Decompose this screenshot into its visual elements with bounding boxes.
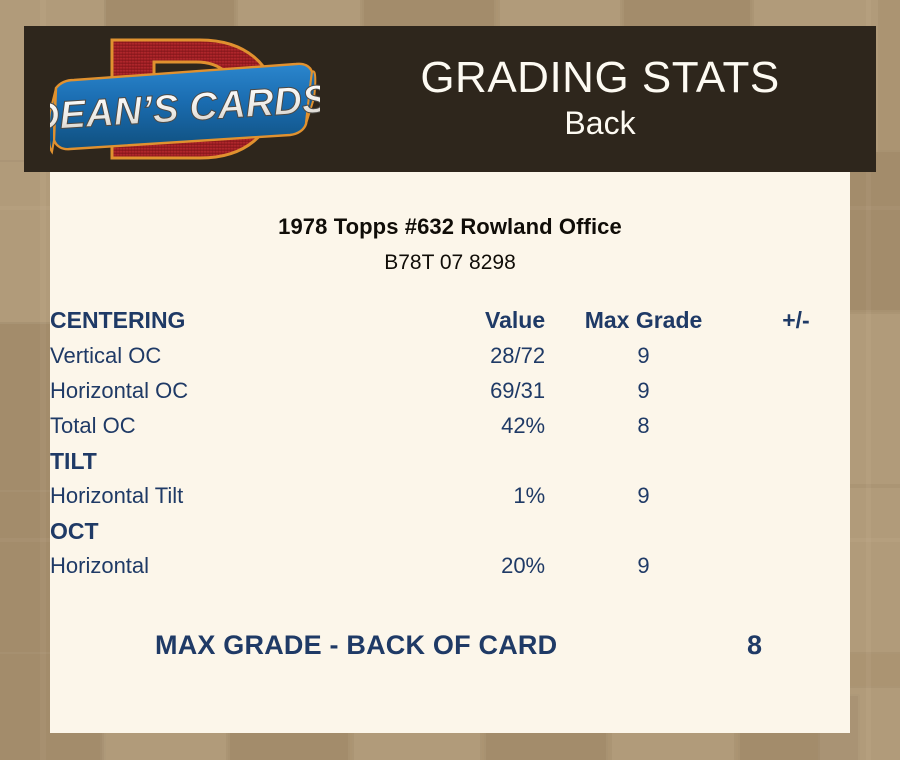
max-grade-value: 8 <box>747 630 850 661</box>
max-grade-label: MAX GRADE - BACK OF CARD <box>50 630 557 661</box>
grading-stats-table: CENTERING Value Max Grade +/- Vertical O… <box>50 307 850 588</box>
logo-banner: DEAN’S CARDS <box>50 64 320 152</box>
column-header-category: CENTERING <box>50 307 407 343</box>
stat-max-grade: 9 <box>545 483 742 518</box>
section-header-row: TILT <box>50 448 850 483</box>
table-row: Horizontal OC69/319 <box>50 378 850 413</box>
table-body: Vertical OC28/729Horizontal OC69/319Tota… <box>50 343 850 588</box>
stat-label: Horizontal OC <box>50 378 407 413</box>
section-header-label: TILT <box>50 448 850 483</box>
stat-label: Vertical OC <box>50 343 407 378</box>
stat-value: 69/31 <box>407 378 545 413</box>
column-header-value: Value <box>407 307 545 343</box>
table-row: Horizontal Tilt1%9 <box>50 483 850 518</box>
stat-max-grade: 9 <box>545 553 742 588</box>
stat-value: 20% <box>407 553 545 588</box>
stat-plus-minus <box>742 378 850 413</box>
stat-value: 42% <box>407 413 545 448</box>
card-title: 1978 Topps #632 Rowland Office <box>50 214 850 240</box>
section-header-label: OCT <box>50 518 850 553</box>
deans-cards-logo[interactable]: DEAN’S CARDS <box>50 28 320 170</box>
page-subtitle: Back <box>564 103 635 143</box>
stats-panel: 1978 Topps #632 Rowland Office B78T 07 8… <box>50 172 850 733</box>
page-title: GRADING STATS <box>420 55 779 101</box>
table-row: Vertical OC28/729 <box>50 343 850 378</box>
column-header-plus-minus: +/- <box>742 307 850 343</box>
grading-stats-page: DEAN’S CARDS GRADING STATS Back 1978 Top… <box>0 0 900 760</box>
column-header-max-grade: Max Grade <box>545 307 742 343</box>
stat-plus-minus <box>742 413 850 448</box>
max-grade-summary: MAX GRADE - BACK OF CARD 8 <box>50 630 850 661</box>
card-serial-number: B78T 07 8298 <box>50 251 850 275</box>
table-row: Total OC42%8 <box>50 413 850 448</box>
stat-label: Horizontal <box>50 553 407 588</box>
table-header: CENTERING Value Max Grade +/- <box>50 307 850 343</box>
stat-plus-minus <box>742 483 850 518</box>
stat-plus-minus <box>742 343 850 378</box>
stat-value: 28/72 <box>407 343 545 378</box>
stat-max-grade: 8 <box>545 413 742 448</box>
section-header-row: OCT <box>50 518 850 553</box>
page-header: DEAN’S CARDS GRADING STATS Back <box>24 26 876 172</box>
stat-max-grade: 9 <box>545 343 742 378</box>
table-header-row: CENTERING Value Max Grade +/- <box>50 307 850 343</box>
stat-plus-minus <box>742 553 850 588</box>
table-row: Horizontal20%9 <box>50 553 850 588</box>
stat-label: Total OC <box>50 413 407 448</box>
stat-max-grade: 9 <box>545 378 742 413</box>
stat-value: 1% <box>407 483 545 518</box>
header-title-block: GRADING STATS Back <box>324 26 876 172</box>
stat-label: Horizontal Tilt <box>50 483 407 518</box>
